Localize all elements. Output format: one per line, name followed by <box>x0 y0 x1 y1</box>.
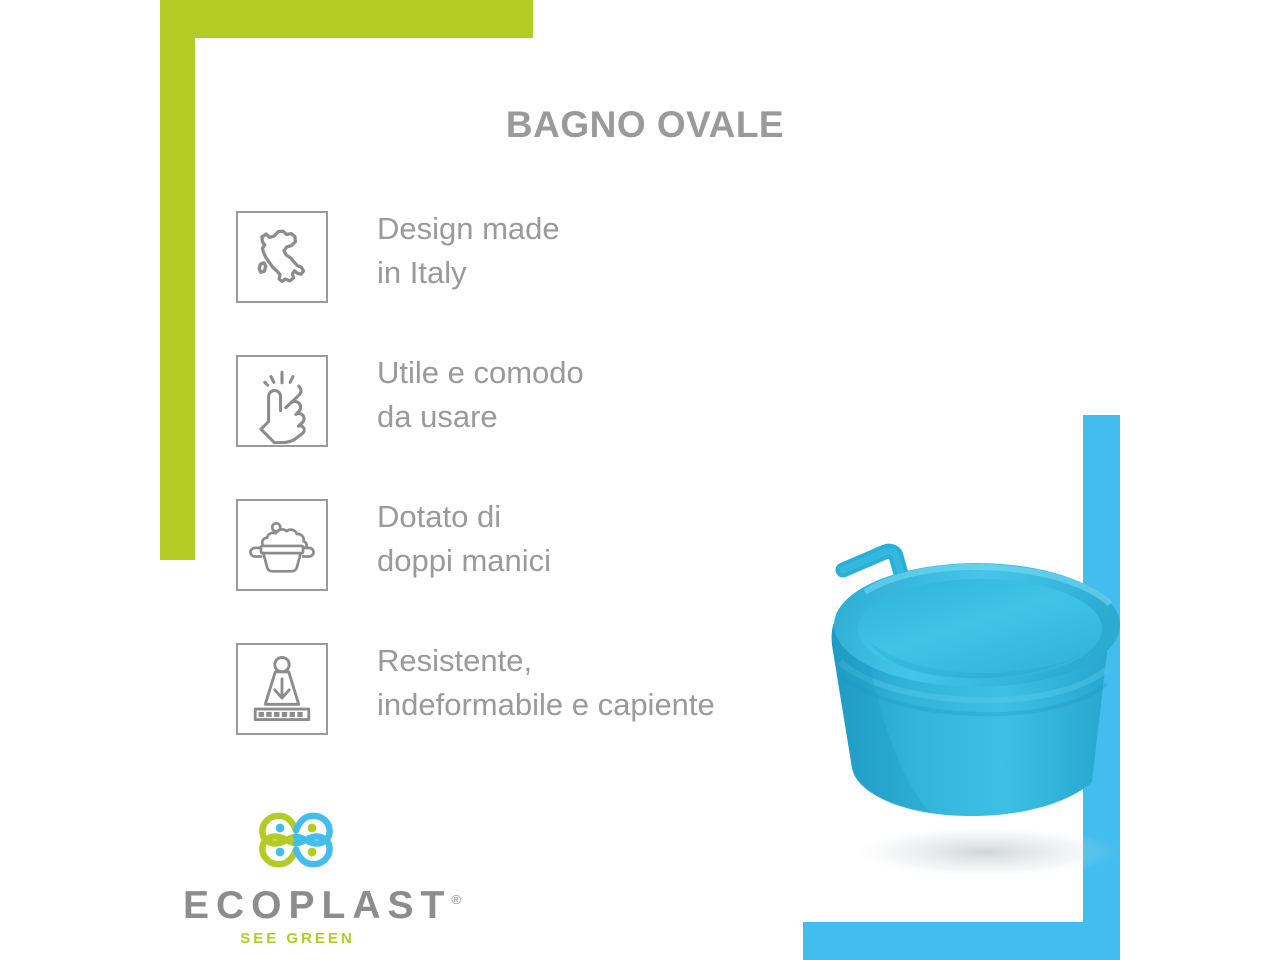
product-sheet-canvas: BAGNO OVALE Design made in Italy <box>0 0 1280 960</box>
green-bracket-vertical <box>160 38 195 560</box>
feature-item-double-handles: Dotato di doppi manici <box>236 499 856 643</box>
feature-line-2: da usare <box>377 395 584 439</box>
feature-line-1: Utile e comodo <box>377 351 584 395</box>
feature-text: Resistente, indeformabile e capiente <box>377 639 715 727</box>
feature-line-1: Design made <box>377 207 560 251</box>
green-bracket-horizontal <box>160 0 533 38</box>
weight-load-icon <box>236 643 328 735</box>
feature-list: Design made in Italy <box>236 211 856 787</box>
oval-basin-illustration <box>810 530 1140 900</box>
feature-line-1: Resistente, <box>377 639 715 683</box>
logo-wordmark-text: ECOPLAST <box>183 884 451 927</box>
feature-text: Utile e comodo da usare <box>377 351 584 439</box>
italy-map-icon <box>236 211 328 303</box>
snapping-fingers-hand-icon <box>236 355 328 447</box>
feature-item-resistant: Resistente, indeformabile e capiente <box>236 643 856 787</box>
registered-trademark-symbol: ® <box>451 892 461 907</box>
logo-tagline: SEE GREEN <box>176 930 416 947</box>
page-title: BAGNO OVALE <box>360 104 930 146</box>
logo-wordmark: ECOPLAST® <box>176 884 416 928</box>
feature-line-2: doppi manici <box>377 539 551 583</box>
feature-item-easy-to-use: Utile e comodo da usare <box>236 355 856 499</box>
feature-line-2: indeformabile e capiente <box>377 683 715 727</box>
feature-line-2: in Italy <box>377 251 560 295</box>
feature-text: Design made in Italy <box>377 207 560 295</box>
oval-basin-photo <box>810 530 1140 900</box>
feature-item-design-made-in-italy: Design made in Italy <box>236 211 856 355</box>
ecoplast-butterfly-mark <box>248 800 344 880</box>
feature-line-1: Dotato di <box>377 495 551 539</box>
basin-with-foam-icon <box>236 499 328 591</box>
blue-bracket-horizontal <box>803 922 1085 960</box>
feature-text: Dotato di doppi manici <box>377 495 551 583</box>
ecoplast-logo: ECOPLAST® SEE GREEN <box>176 800 416 947</box>
